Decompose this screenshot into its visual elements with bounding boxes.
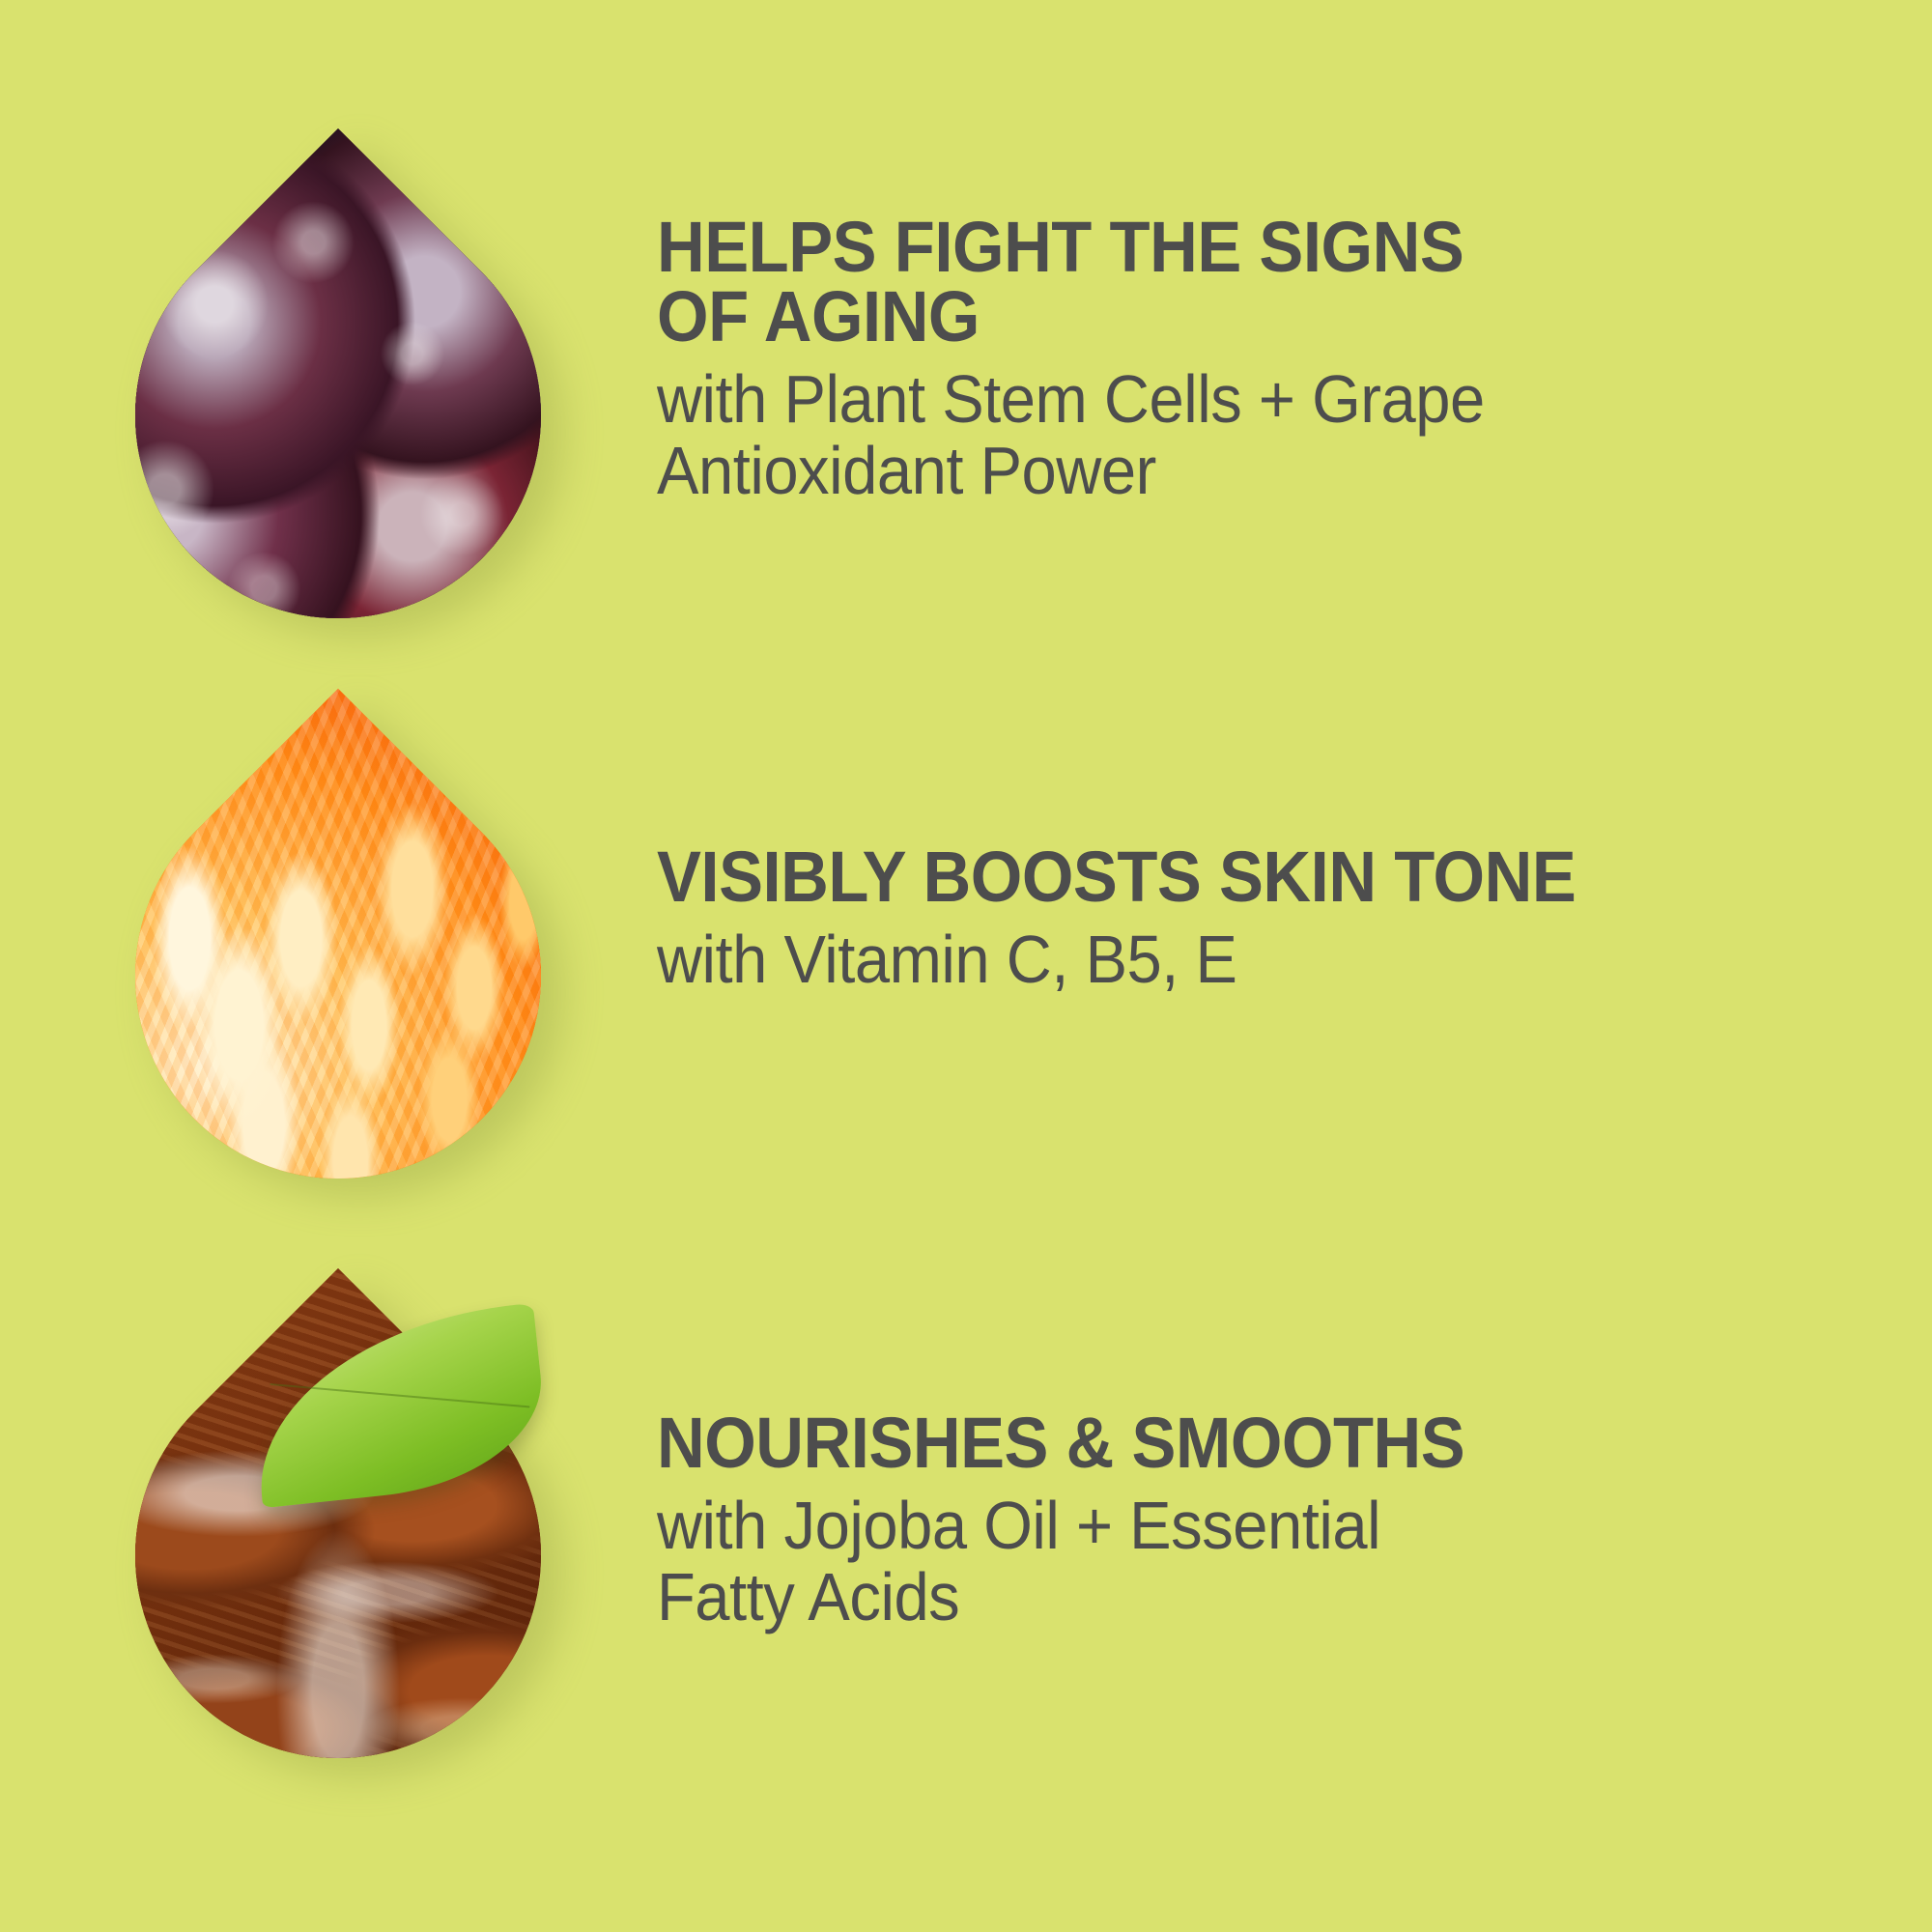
feature-copy-nourish-smooth: NOURISHES & SMOOTHS with Jojoba Oil + Es… — [657, 1408, 1864, 1633]
feature-copy-skin-tone: VISIBLY BOOSTS SKIN TONE with Vitamin C,… — [657, 842, 1864, 995]
feature-subline: with Plant Stem Cells + Grape Antioxidan… — [657, 363, 1780, 506]
grapes-image — [51, 128, 625, 702]
droplet-dates — [135, 1256, 541, 1758]
droplet-citrus — [135, 676, 541, 1179]
dates-image — [51, 1268, 625, 1842]
feature-row-anti-aging: HELPS FIGHT THE SIGNS OF AGING with Plan… — [0, 116, 1932, 638]
citrus-droplet-icon — [135, 676, 541, 1179]
feature-headline: VISIBLY BOOSTS SKIN TONE — [657, 842, 1780, 912]
feature-row-skin-tone: VISIBLY BOOSTS SKIN TONE with Vitamin C,… — [0, 676, 1932, 1198]
feature-headline: NOURISHES & SMOOTHS — [657, 1408, 1780, 1478]
dates-droplet-icon — [135, 1256, 541, 1758]
droplet-grapes — [135, 116, 541, 618]
feature-row-nourish-smooth: NOURISHES & SMOOTHS with Jojoba Oil + Es… — [0, 1256, 1932, 1777]
feature-copy-anti-aging: HELPS FIGHT THE SIGNS OF AGING with Plan… — [657, 213, 1864, 506]
feature-headline: HELPS FIGHT THE SIGNS OF AGING — [657, 213, 1780, 352]
grapes-droplet-icon — [135, 116, 541, 618]
citrus-image — [51, 689, 625, 1263]
feature-subline: with Vitamin C, B5, E — [657, 923, 1780, 995]
feature-subline: with Jojoba Oil + Essential Fatty Acids — [657, 1490, 1780, 1633]
benefits-panel: HELPS FIGHT THE SIGNS OF AGING with Plan… — [0, 0, 1932, 1932]
